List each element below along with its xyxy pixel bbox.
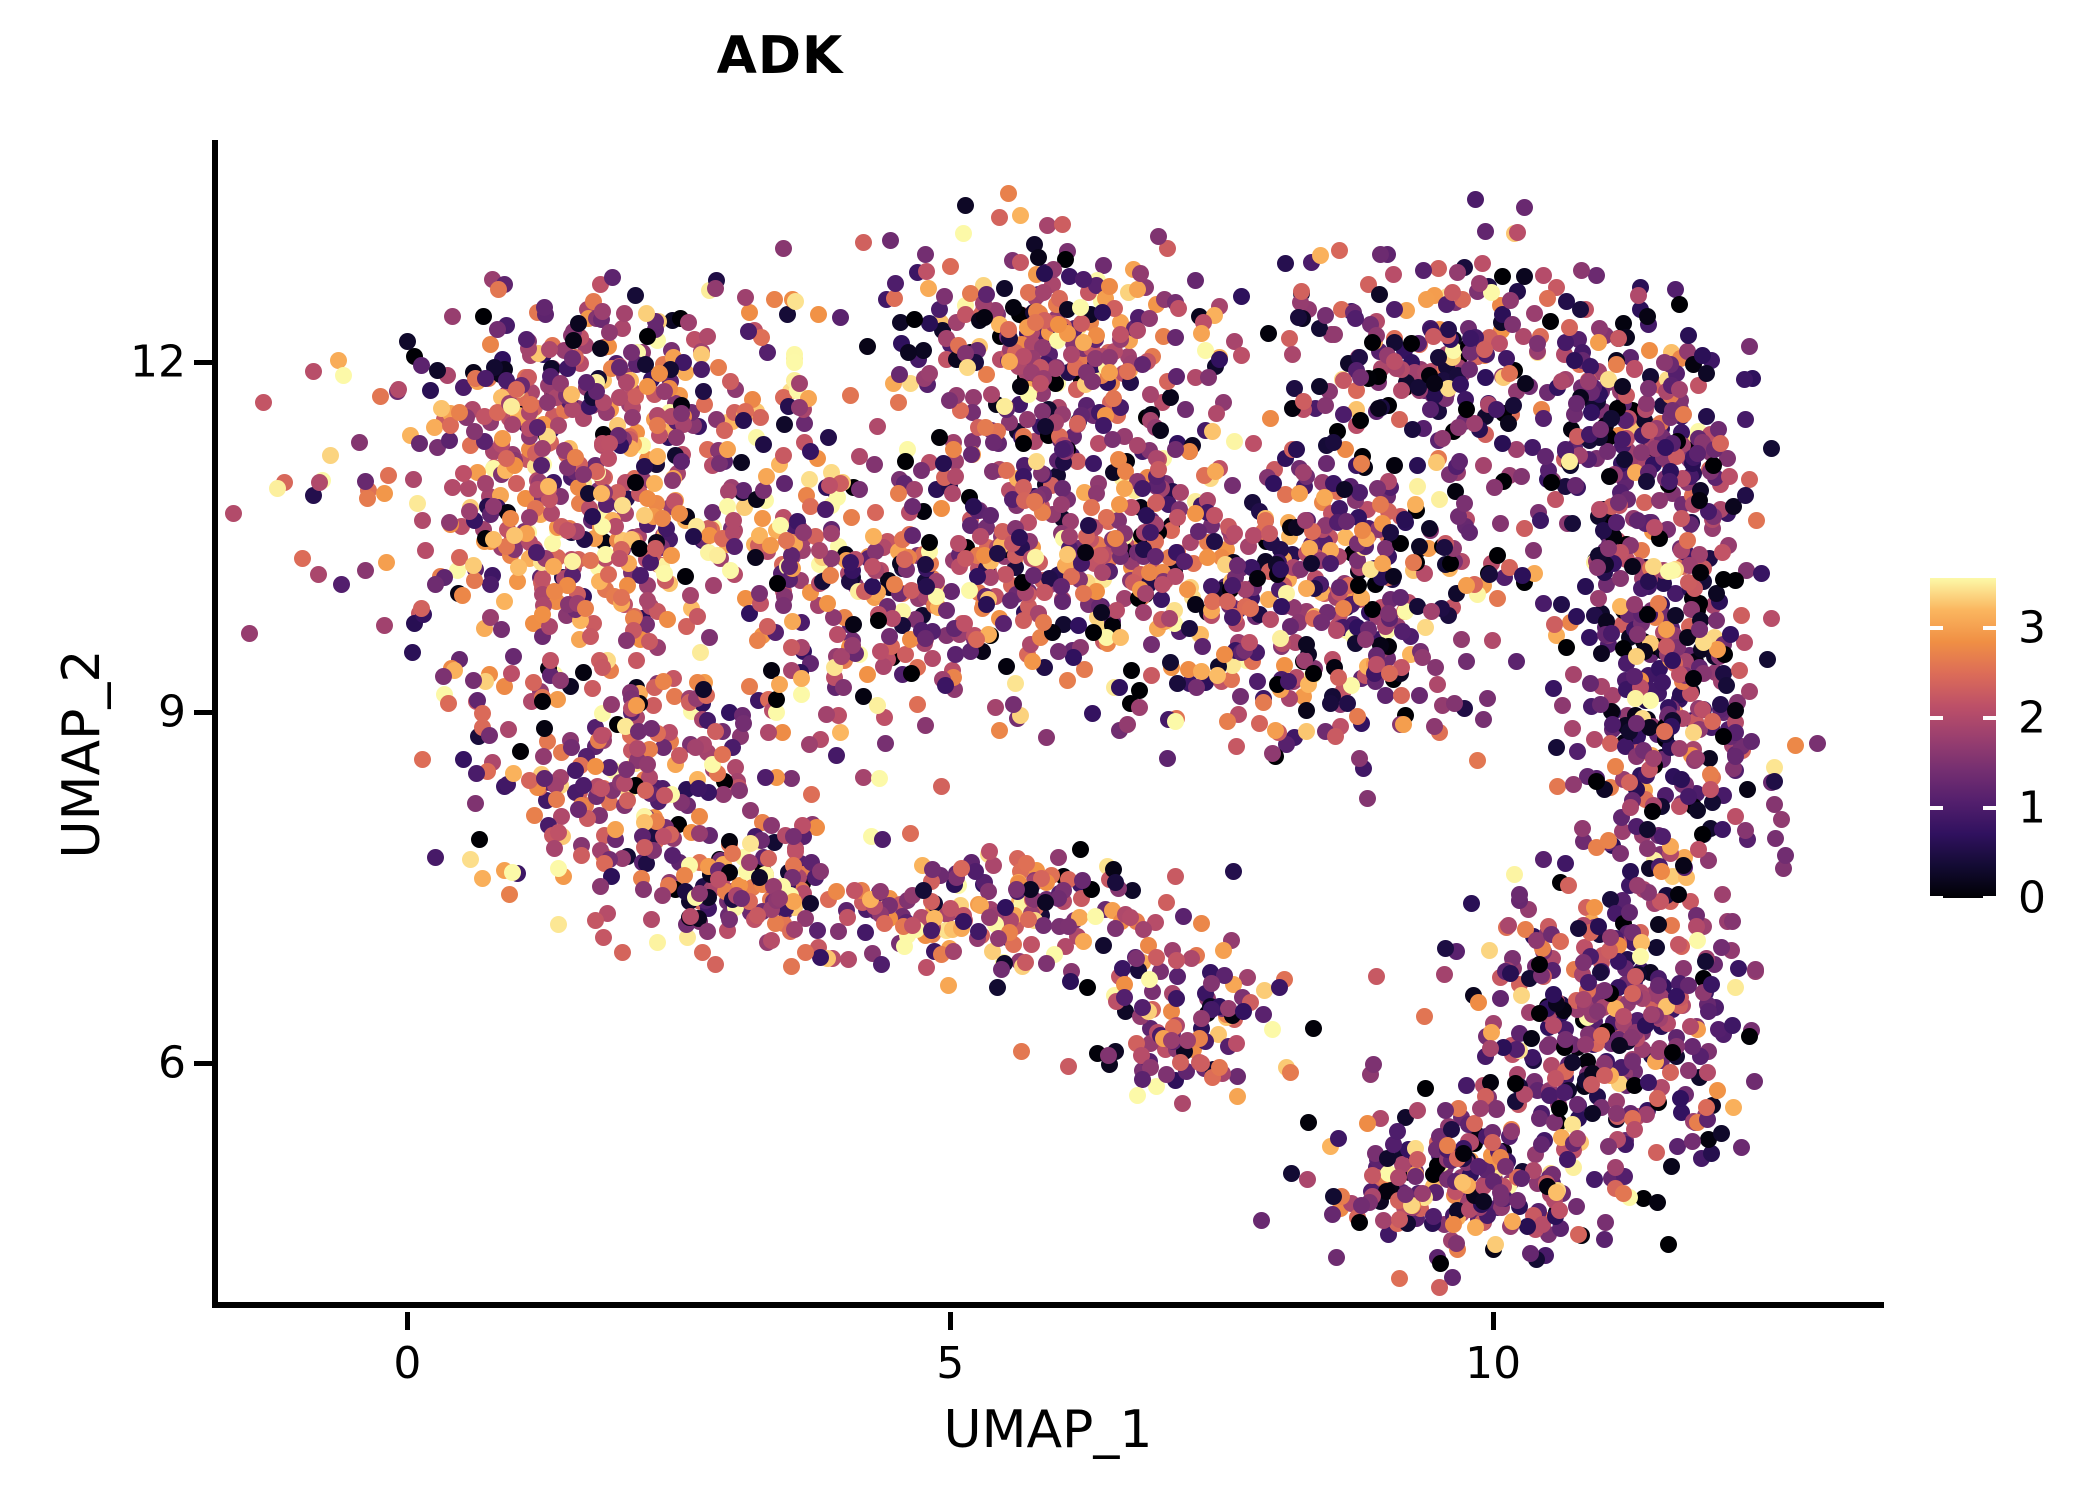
scatter-point bbox=[921, 365, 938, 382]
scatter-point bbox=[1235, 1003, 1252, 1020]
scatter-point bbox=[906, 481, 923, 498]
scatter-point bbox=[1365, 1056, 1382, 1073]
scatter-point bbox=[1556, 1084, 1573, 1101]
scatter-point bbox=[414, 512, 431, 529]
scatter-point bbox=[671, 747, 688, 764]
scatter-point bbox=[722, 562, 739, 579]
scatter-point bbox=[1482, 1040, 1499, 1057]
scatter-point bbox=[668, 429, 685, 446]
scatter-point bbox=[963, 446, 980, 463]
scatter-point bbox=[1436, 966, 1453, 983]
scatter-point bbox=[444, 308, 461, 325]
scatter-point bbox=[810, 306, 827, 323]
scatter-point bbox=[1147, 548, 1164, 565]
scatter-point bbox=[405, 471, 422, 488]
scatter-point bbox=[426, 419, 443, 436]
scatter-point bbox=[1208, 405, 1225, 422]
scatter-point bbox=[1511, 886, 1528, 903]
scatter-point bbox=[691, 825, 708, 842]
scatter-point bbox=[594, 659, 611, 676]
scatter-point bbox=[1759, 651, 1776, 668]
scatter-point bbox=[1168, 952, 1185, 969]
scatter-point bbox=[735, 412, 752, 429]
scatter-point bbox=[619, 792, 636, 809]
scatter-point bbox=[310, 566, 327, 583]
scatter-point bbox=[1168, 990, 1185, 1007]
scatter-point bbox=[1169, 675, 1186, 692]
scatter-point bbox=[1007, 675, 1024, 692]
scatter-point bbox=[1255, 694, 1272, 711]
scatter-point bbox=[1638, 395, 1655, 412]
scatter-point bbox=[618, 761, 635, 778]
scatter-point bbox=[1451, 453, 1468, 470]
scatter-point bbox=[413, 600, 430, 617]
scatter-point bbox=[1627, 690, 1644, 707]
scatter-point bbox=[1592, 421, 1609, 438]
scatter-point bbox=[1565, 776, 1582, 793]
scatter-point bbox=[500, 721, 517, 738]
scatter-point bbox=[817, 501, 834, 518]
scatter-point bbox=[709, 547, 726, 564]
scatter-point bbox=[1158, 1066, 1175, 1083]
scatter-point bbox=[1698, 365, 1715, 382]
scatter-point bbox=[1547, 1070, 1564, 1087]
scatter-point bbox=[1545, 680, 1562, 697]
scatter-point bbox=[828, 883, 845, 900]
scatter-point bbox=[1233, 347, 1250, 364]
scatter-point bbox=[1229, 1088, 1246, 1105]
y-tick-label: 6 bbox=[158, 1037, 186, 1088]
scatter-point bbox=[1072, 299, 1089, 316]
scatter-point bbox=[985, 434, 1002, 451]
scatter-point bbox=[1018, 855, 1035, 872]
scatter-point bbox=[996, 398, 1013, 415]
scatter-point bbox=[1705, 457, 1722, 474]
scatter-point bbox=[462, 851, 479, 868]
scatter-point bbox=[628, 652, 645, 669]
scatter-point bbox=[1748, 512, 1765, 529]
scatter-point bbox=[593, 727, 610, 744]
scatter-point bbox=[1207, 463, 1224, 480]
scatter-point bbox=[1564, 720, 1581, 737]
scatter-point bbox=[1206, 533, 1223, 550]
scatter-point bbox=[1431, 1279, 1448, 1296]
scatter-point bbox=[603, 696, 620, 713]
scatter-point bbox=[594, 303, 611, 320]
scatter-point bbox=[997, 899, 1014, 916]
scatter-point bbox=[1253, 1212, 1270, 1229]
scatter-point bbox=[411, 435, 428, 452]
scatter-point bbox=[1504, 316, 1521, 333]
y-tick-mark bbox=[194, 1061, 212, 1066]
scatter-point bbox=[1505, 397, 1522, 414]
scatter-point bbox=[876, 915, 893, 932]
scatter-point bbox=[1567, 477, 1584, 494]
scatter-point bbox=[1028, 453, 1045, 470]
scatter-point bbox=[1330, 1130, 1347, 1147]
scatter-point bbox=[567, 449, 584, 466]
scatter-point bbox=[1475, 711, 1492, 728]
scatter-point bbox=[903, 665, 920, 682]
scatter-point bbox=[376, 485, 393, 502]
scatter-point bbox=[1219, 713, 1236, 730]
scatter-point bbox=[454, 587, 471, 604]
scatter-point bbox=[920, 280, 937, 297]
scatter-point bbox=[915, 342, 932, 359]
scatter-point bbox=[1727, 979, 1744, 996]
scatter-point bbox=[1293, 283, 1310, 300]
scatter-point bbox=[649, 417, 666, 434]
scatter-point bbox=[1108, 602, 1125, 619]
scatter-point bbox=[1154, 576, 1171, 593]
scatter-point bbox=[1281, 330, 1298, 347]
scatter-point bbox=[1167, 868, 1184, 885]
scatter-point bbox=[351, 434, 368, 451]
scatter-point bbox=[1513, 1170, 1530, 1187]
scatter-point bbox=[1193, 1010, 1210, 1027]
scatter-point bbox=[783, 958, 800, 975]
scatter-point bbox=[1604, 716, 1621, 733]
scatter-point bbox=[1167, 713, 1184, 730]
scatter-point bbox=[649, 448, 666, 465]
scatter-point bbox=[1262, 410, 1279, 427]
scatter-point bbox=[508, 475, 525, 492]
scatter-point bbox=[842, 387, 859, 404]
scatter-point bbox=[1589, 559, 1606, 576]
scatter-point bbox=[1369, 480, 1386, 497]
y-tick-label: 9 bbox=[158, 687, 186, 738]
scatter-point bbox=[755, 436, 772, 453]
scatter-point bbox=[897, 453, 914, 470]
scatter-point bbox=[707, 280, 724, 297]
scatter-point bbox=[742, 835, 759, 852]
scatter-point bbox=[1229, 557, 1246, 574]
scatter-point bbox=[874, 831, 891, 848]
scatter-point bbox=[906, 311, 923, 328]
scatter-point bbox=[760, 724, 777, 741]
scatter-point bbox=[1444, 284, 1461, 301]
scatter-point bbox=[359, 490, 376, 507]
scatter-point bbox=[255, 394, 272, 411]
scatter-point bbox=[322, 447, 339, 464]
scatter-point bbox=[474, 870, 491, 887]
scatter-point bbox=[542, 652, 559, 669]
scatter-point bbox=[1249, 570, 1266, 587]
scatter-point bbox=[1290, 309, 1307, 326]
scatter-point bbox=[1404, 421, 1421, 438]
scatter-point bbox=[1679, 532, 1696, 549]
scatter-point bbox=[1391, 1270, 1408, 1287]
scatter-point bbox=[843, 509, 860, 526]
scatter-point bbox=[1663, 1158, 1680, 1175]
scatter-point bbox=[1193, 915, 1210, 932]
scatter-point bbox=[1015, 435, 1032, 452]
scatter-point bbox=[1481, 942, 1498, 959]
scatter-point bbox=[1680, 788, 1697, 805]
scatter-point bbox=[940, 977, 957, 994]
scatter-point bbox=[1590, 334, 1607, 351]
scatter-point bbox=[1188, 679, 1205, 696]
scatter-point bbox=[1713, 1125, 1730, 1142]
scatter-point bbox=[846, 882, 863, 899]
scatter-point bbox=[1607, 1159, 1624, 1176]
scatter-point bbox=[1648, 1144, 1665, 1161]
scatter-point bbox=[1392, 589, 1409, 606]
scatter-point bbox=[1638, 473, 1655, 490]
scatter-point bbox=[1380, 605, 1397, 622]
scatter-point bbox=[1391, 1211, 1408, 1228]
scatter-point bbox=[1325, 1188, 1342, 1205]
plot-axes-area: 6912 0510 bbox=[212, 140, 1884, 1308]
scatter-point bbox=[993, 961, 1010, 978]
scatter-point bbox=[871, 770, 888, 787]
scatter-point bbox=[715, 786, 732, 803]
scatter-point bbox=[1626, 1121, 1643, 1138]
scatter-point bbox=[1533, 1136, 1550, 1153]
scatter-point bbox=[942, 258, 959, 275]
scatter-point bbox=[1352, 412, 1369, 429]
scatter-point bbox=[1516, 268, 1533, 285]
scatter-point bbox=[693, 361, 710, 378]
scatter-point bbox=[1469, 752, 1486, 769]
scatter-point bbox=[1386, 353, 1403, 370]
scatter-point bbox=[1445, 1216, 1462, 1233]
scatter-point bbox=[1211, 351, 1228, 368]
scatter-point bbox=[399, 333, 416, 350]
scatter-point bbox=[570, 315, 587, 332]
scatter-point bbox=[536, 720, 553, 737]
scatter-point bbox=[1119, 716, 1136, 733]
scatter-point bbox=[1354, 522, 1371, 539]
scatter-point bbox=[1002, 592, 1019, 609]
scatter-point bbox=[763, 932, 780, 949]
scatter-point bbox=[1336, 481, 1353, 498]
scatter-point bbox=[1134, 356, 1151, 373]
scatter-point bbox=[1698, 1099, 1715, 1116]
scatter-point bbox=[600, 450, 617, 467]
scatter-point bbox=[699, 923, 716, 940]
scatter-point bbox=[1622, 799, 1639, 816]
scatter-point bbox=[1573, 262, 1590, 279]
scatter-point bbox=[1233, 288, 1250, 305]
scatter-point bbox=[1551, 1100, 1568, 1117]
scatter-point bbox=[1229, 1068, 1246, 1085]
scatter-point bbox=[414, 751, 431, 768]
scatter-point bbox=[673, 453, 690, 470]
scatter-point bbox=[1586, 1171, 1603, 1188]
scatter-point bbox=[917, 717, 934, 734]
scatter-point bbox=[1371, 286, 1388, 303]
scatter-point bbox=[1415, 262, 1432, 279]
scatter-point bbox=[550, 916, 567, 933]
scatter-point bbox=[784, 613, 801, 630]
scatter-point bbox=[891, 366, 908, 383]
colorbar-tick-mark bbox=[1983, 626, 1996, 630]
scatter-point bbox=[1668, 988, 1685, 1005]
scatter-point bbox=[631, 540, 648, 557]
scatter-point bbox=[822, 567, 839, 584]
scatter-point bbox=[1429, 676, 1446, 693]
scatter-point bbox=[1075, 271, 1092, 288]
scatter-point bbox=[924, 650, 941, 667]
scatter-point bbox=[1150, 228, 1167, 245]
scatter-point bbox=[1689, 932, 1706, 949]
scatter-point bbox=[989, 979, 1006, 996]
scatter-point bbox=[378, 554, 395, 571]
scatter-point bbox=[498, 450, 515, 467]
scatter-point bbox=[832, 309, 849, 326]
scatter-point bbox=[1093, 604, 1110, 621]
scatter-point bbox=[1116, 480, 1133, 497]
scatter-point bbox=[663, 547, 680, 564]
scatter-point bbox=[1709, 1082, 1726, 1099]
scatter-point bbox=[1169, 509, 1186, 526]
scatter-point bbox=[311, 474, 328, 491]
scatter-point bbox=[1548, 739, 1565, 756]
scatter-point bbox=[1368, 968, 1385, 985]
scatter-point bbox=[1316, 489, 1333, 506]
scatter-point bbox=[1107, 874, 1124, 891]
scatter-point bbox=[820, 429, 837, 446]
scatter-point bbox=[1488, 1100, 1505, 1117]
scatter-point bbox=[477, 370, 494, 387]
scatter-point bbox=[573, 847, 590, 864]
colorbar-tick-mark bbox=[1983, 896, 1996, 900]
scatter-point bbox=[1472, 1100, 1489, 1117]
scatter-point bbox=[534, 606, 551, 623]
scatter-point bbox=[587, 912, 604, 929]
scatter-point bbox=[1351, 484, 1368, 501]
scatter-point bbox=[1546, 616, 1563, 633]
scatter-point bbox=[1588, 773, 1605, 790]
scatter-point bbox=[1375, 1212, 1392, 1229]
scatter-point bbox=[1053, 578, 1070, 595]
scatter-point bbox=[823, 525, 840, 542]
scatter-point bbox=[1015, 612, 1032, 629]
scatter-point bbox=[1111, 496, 1128, 513]
x-tick-mark bbox=[948, 1312, 953, 1330]
scatter-point bbox=[872, 883, 889, 900]
scatter-point bbox=[1428, 454, 1445, 471]
scatter-point bbox=[1395, 716, 1412, 733]
scatter-point bbox=[1766, 796, 1783, 813]
scatter-point bbox=[873, 956, 890, 973]
scatter-point bbox=[1608, 514, 1625, 531]
scatter-point bbox=[1730, 960, 1747, 977]
scatter-point bbox=[468, 765, 485, 782]
y-axis-spine bbox=[212, 140, 218, 1308]
scatter-point bbox=[604, 269, 621, 286]
scatter-point bbox=[1529, 335, 1546, 352]
scatter-point bbox=[869, 418, 886, 435]
scatter-point bbox=[1667, 607, 1684, 624]
scatter-point bbox=[1633, 444, 1650, 461]
scatter-point bbox=[471, 831, 488, 848]
scatter-point bbox=[797, 944, 814, 961]
scatter-point bbox=[1239, 969, 1256, 986]
scatter-point bbox=[762, 537, 779, 554]
scatter-point bbox=[413, 357, 430, 374]
scatter-point bbox=[1005, 696, 1022, 713]
scatter-point bbox=[1030, 249, 1047, 266]
colorbar-tick-label: 0 bbox=[2018, 873, 2046, 924]
scatter-point bbox=[1425, 1208, 1442, 1225]
scatter-point bbox=[1215, 942, 1232, 959]
colorbar-tick-mark bbox=[1983, 716, 1996, 720]
scatter-point bbox=[1012, 254, 1029, 271]
y-tick-label: 12 bbox=[130, 336, 186, 387]
scatter-point bbox=[731, 782, 748, 799]
scatter-point bbox=[1434, 430, 1451, 447]
scatter-point bbox=[1583, 404, 1600, 421]
scatter-point bbox=[687, 739, 704, 756]
scatter-point bbox=[546, 840, 563, 857]
scatter-point bbox=[981, 909, 998, 926]
scatter-point bbox=[651, 365, 668, 382]
scatter-point bbox=[502, 510, 519, 527]
scatter-point bbox=[978, 286, 995, 303]
scatter-point bbox=[866, 456, 883, 473]
scatter-point bbox=[404, 644, 421, 661]
scatter-point bbox=[564, 350, 581, 367]
scatter-point bbox=[1737, 822, 1754, 839]
scatter-point bbox=[955, 225, 972, 242]
scatter-point bbox=[649, 934, 666, 951]
scatter-point bbox=[741, 304, 758, 321]
x-tick-label: 0 bbox=[393, 1338, 421, 1389]
scatter-point bbox=[1727, 748, 1744, 765]
scatter-point bbox=[968, 631, 985, 648]
scatter-point bbox=[1409, 1102, 1426, 1119]
scatter-point bbox=[616, 305, 633, 322]
colorbar-tick-mark bbox=[1930, 716, 1943, 720]
scatter-point bbox=[1543, 474, 1560, 491]
scatter-point bbox=[875, 658, 892, 675]
scatter-point bbox=[1535, 410, 1552, 427]
scatter-point bbox=[776, 416, 793, 433]
scatter-point bbox=[1036, 584, 1053, 601]
scatter-point bbox=[913, 462, 930, 479]
scatter-point bbox=[1200, 369, 1217, 386]
scatter-point bbox=[1203, 975, 1220, 992]
scatter-point bbox=[505, 765, 522, 782]
scatter-point bbox=[1204, 423, 1221, 440]
scatter-point bbox=[682, 908, 699, 925]
scatter-point bbox=[1417, 619, 1434, 636]
scatter-point bbox=[1503, 1123, 1520, 1140]
scatter-point bbox=[584, 680, 601, 697]
colorbar-tick-mark bbox=[1983, 806, 1996, 810]
scatter-point bbox=[859, 666, 876, 683]
scatter-point bbox=[1725, 1099, 1742, 1116]
scatter-point bbox=[1551, 1202, 1568, 1219]
scatter-point bbox=[1741, 683, 1758, 700]
scatter-point bbox=[877, 735, 894, 752]
scatter-point bbox=[1175, 908, 1192, 925]
scatter-point bbox=[1688, 750, 1705, 767]
scatter-point bbox=[998, 658, 1015, 675]
scatter-point bbox=[1228, 738, 1245, 755]
scatter-point bbox=[380, 467, 397, 484]
y-tick-mark bbox=[194, 360, 212, 365]
scatter-point bbox=[886, 576, 903, 593]
scatter-point bbox=[956, 615, 973, 632]
scatter-point bbox=[1608, 356, 1625, 373]
scatter-point bbox=[639, 328, 656, 345]
scatter-point bbox=[1430, 260, 1447, 277]
scatter-point bbox=[1017, 954, 1034, 971]
scatter-point bbox=[548, 791, 565, 808]
